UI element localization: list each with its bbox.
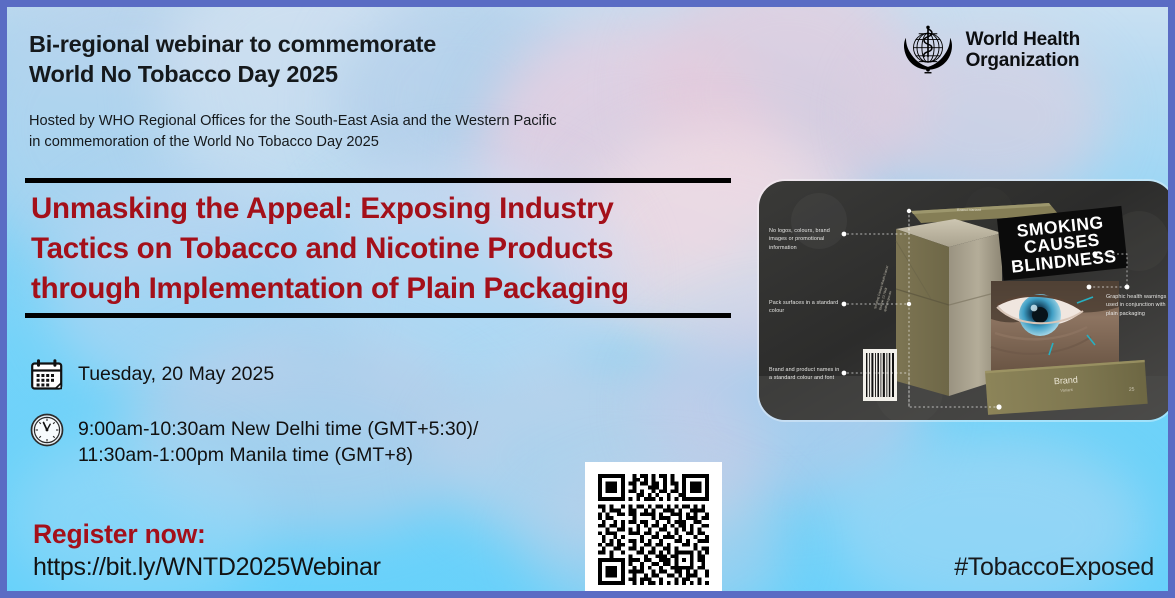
who-logo-line2: Organization bbox=[966, 50, 1080, 71]
webinar-title: Unmasking the Appeal: Exposing Industry … bbox=[25, 183, 731, 313]
svg-text:25: 25 bbox=[1129, 387, 1135, 393]
who-logo-line1: World Health bbox=[966, 29, 1080, 50]
calendar-icon bbox=[29, 357, 65, 393]
title-rule-bottom bbox=[25, 313, 731, 318]
webinar-title-block: Unmasking the Appeal: Exposing Industry … bbox=[25, 178, 731, 318]
svg-text:Brand Variant: Brand Variant bbox=[957, 207, 982, 212]
event-time-line2: 11:30am-1:00pm Manila time (GMT+8) bbox=[78, 444, 413, 466]
event-time-row: 9:00am-10:30am New Delhi time (GMT+5:30)… bbox=[29, 412, 629, 468]
event-time-line1: 9:00am-10:30am New Delhi time (GMT+5:30)… bbox=[78, 418, 478, 440]
page-title: Bi-regional webinar to commemorate World… bbox=[29, 29, 749, 89]
webinar-title-line1: Unmasking the Appeal: Exposing Industry bbox=[31, 192, 614, 225]
webinar-title-line2: Tactics on Tobacco and Nicotine Products bbox=[31, 232, 613, 265]
event-time: 9:00am-10:30am New Delhi time (GMT+5:30)… bbox=[78, 412, 478, 468]
register-block: Register now: https://bit.ly/WNTD2025Web… bbox=[33, 519, 381, 582]
event-date-row: Tuesday, 20 May 2025 bbox=[29, 357, 629, 393]
who-emblem-icon bbox=[899, 21, 957, 79]
qr-code-panel[interactable] bbox=[585, 462, 722, 597]
plain-packaging-image: Brand Variant Smoking Causes Mouth Cance… bbox=[759, 181, 1174, 420]
webinar-title-line3: through Implementation of Plain Packagin… bbox=[31, 272, 629, 305]
clock-icon bbox=[29, 412, 65, 448]
svg-text:Variant: Variant bbox=[1060, 387, 1074, 393]
header-subtitle-line2: in commemoration of the World No Tobacco… bbox=[29, 134, 379, 150]
register-url[interactable]: https://bit.ly/WNTD2025Webinar bbox=[33, 553, 381, 582]
who-logo: World Health Organization bbox=[899, 21, 1080, 79]
packaging-annotation-3: Brand and product names in a standard co… bbox=[769, 366, 841, 383]
who-logo-text: World Health Organization bbox=[966, 29, 1080, 72]
header-subtitle-line1: Hosted by WHO Regional Offices for the S… bbox=[29, 113, 557, 129]
packaging-annotation-2: Pack surfaces in a standard colour bbox=[769, 299, 841, 316]
webinar-poster: Bi-regional webinar to commemorate World… bbox=[0, 0, 1175, 598]
header: Bi-regional webinar to commemorate World… bbox=[29, 29, 749, 153]
event-details: Tuesday, 20 May 2025 bbox=[29, 357, 629, 468]
qr-code-icon[interactable] bbox=[597, 474, 710, 585]
header-subtitle: Hosted by WHO Regional Offices for the S… bbox=[29, 111, 749, 152]
register-label: Register now: bbox=[33, 519, 381, 550]
event-date: Tuesday, 20 May 2025 bbox=[78, 357, 274, 387]
packaging-annotation-4: Graphic health warnings used in conjunct… bbox=[1106, 293, 1168, 318]
page-title-line2: World No Tobacco Day 2025 bbox=[29, 61, 338, 87]
packaging-annotation-1: No logos, colours, brand images or promo… bbox=[769, 227, 841, 252]
page-title-line1: Bi-regional webinar to commemorate bbox=[29, 31, 436, 57]
svg-text:Brand: Brand bbox=[1054, 375, 1079, 387]
hashtag: #TobaccoExposed bbox=[954, 553, 1154, 582]
